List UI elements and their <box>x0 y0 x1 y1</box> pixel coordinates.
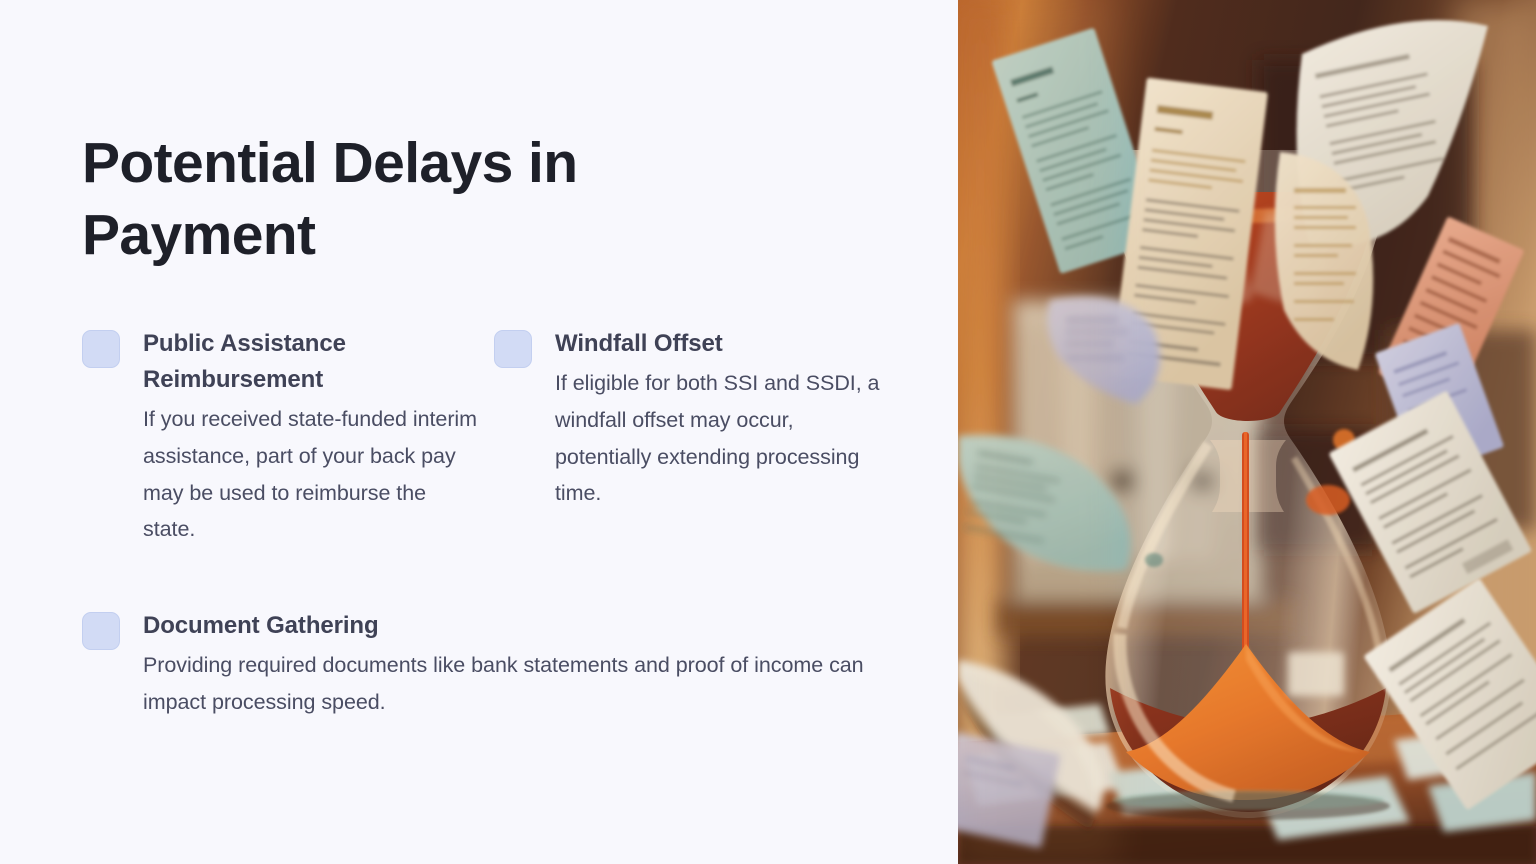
bullet-item-document-gathering: Document Gathering Providing required do… <box>82 608 882 721</box>
bullet-grid: Public Assistance Reimbursement If you r… <box>82 326 892 608</box>
page-title: Potential Delays in Payment <box>82 128 702 272</box>
bullet-body: Windfall Offset If eligible for both SSI… <box>555 326 894 512</box>
hourglass-with-flying-documents-photo <box>958 0 1536 864</box>
bullet-text: Providing required documents like bank s… <box>143 647 882 721</box>
bullet-item-public-assistance-reimbursement: Public Assistance Reimbursement If you r… <box>82 326 482 548</box>
bullet-heading: Public Assistance Reimbursement <box>143 326 482 398</box>
rounded-square-bullet-icon <box>494 330 532 368</box>
bullet-item-windfall-offset: Windfall Offset If eligible for both SSI… <box>494 326 894 512</box>
bullet-row-1: Public Assistance Reimbursement If you r… <box>82 326 892 608</box>
bullet-body: Public Assistance Reimbursement If you r… <box>143 326 482 548</box>
bullet-text: If you received state-funded interim ass… <box>143 401 482 548</box>
bullet-body: Document Gathering Providing required do… <box>143 608 882 721</box>
rounded-square-bullet-icon <box>82 612 120 650</box>
bullet-heading: Windfall Offset <box>555 326 894 362</box>
bullet-text: If eligible for both SSI and SSDI, a win… <box>555 365 894 512</box>
slide-root: Potential Delays in Payment Public Assis… <box>0 0 1536 864</box>
content-pane: Potential Delays in Payment Public Assis… <box>0 0 958 864</box>
bullet-heading: Document Gathering <box>143 608 882 644</box>
rounded-square-bullet-icon <box>82 330 120 368</box>
